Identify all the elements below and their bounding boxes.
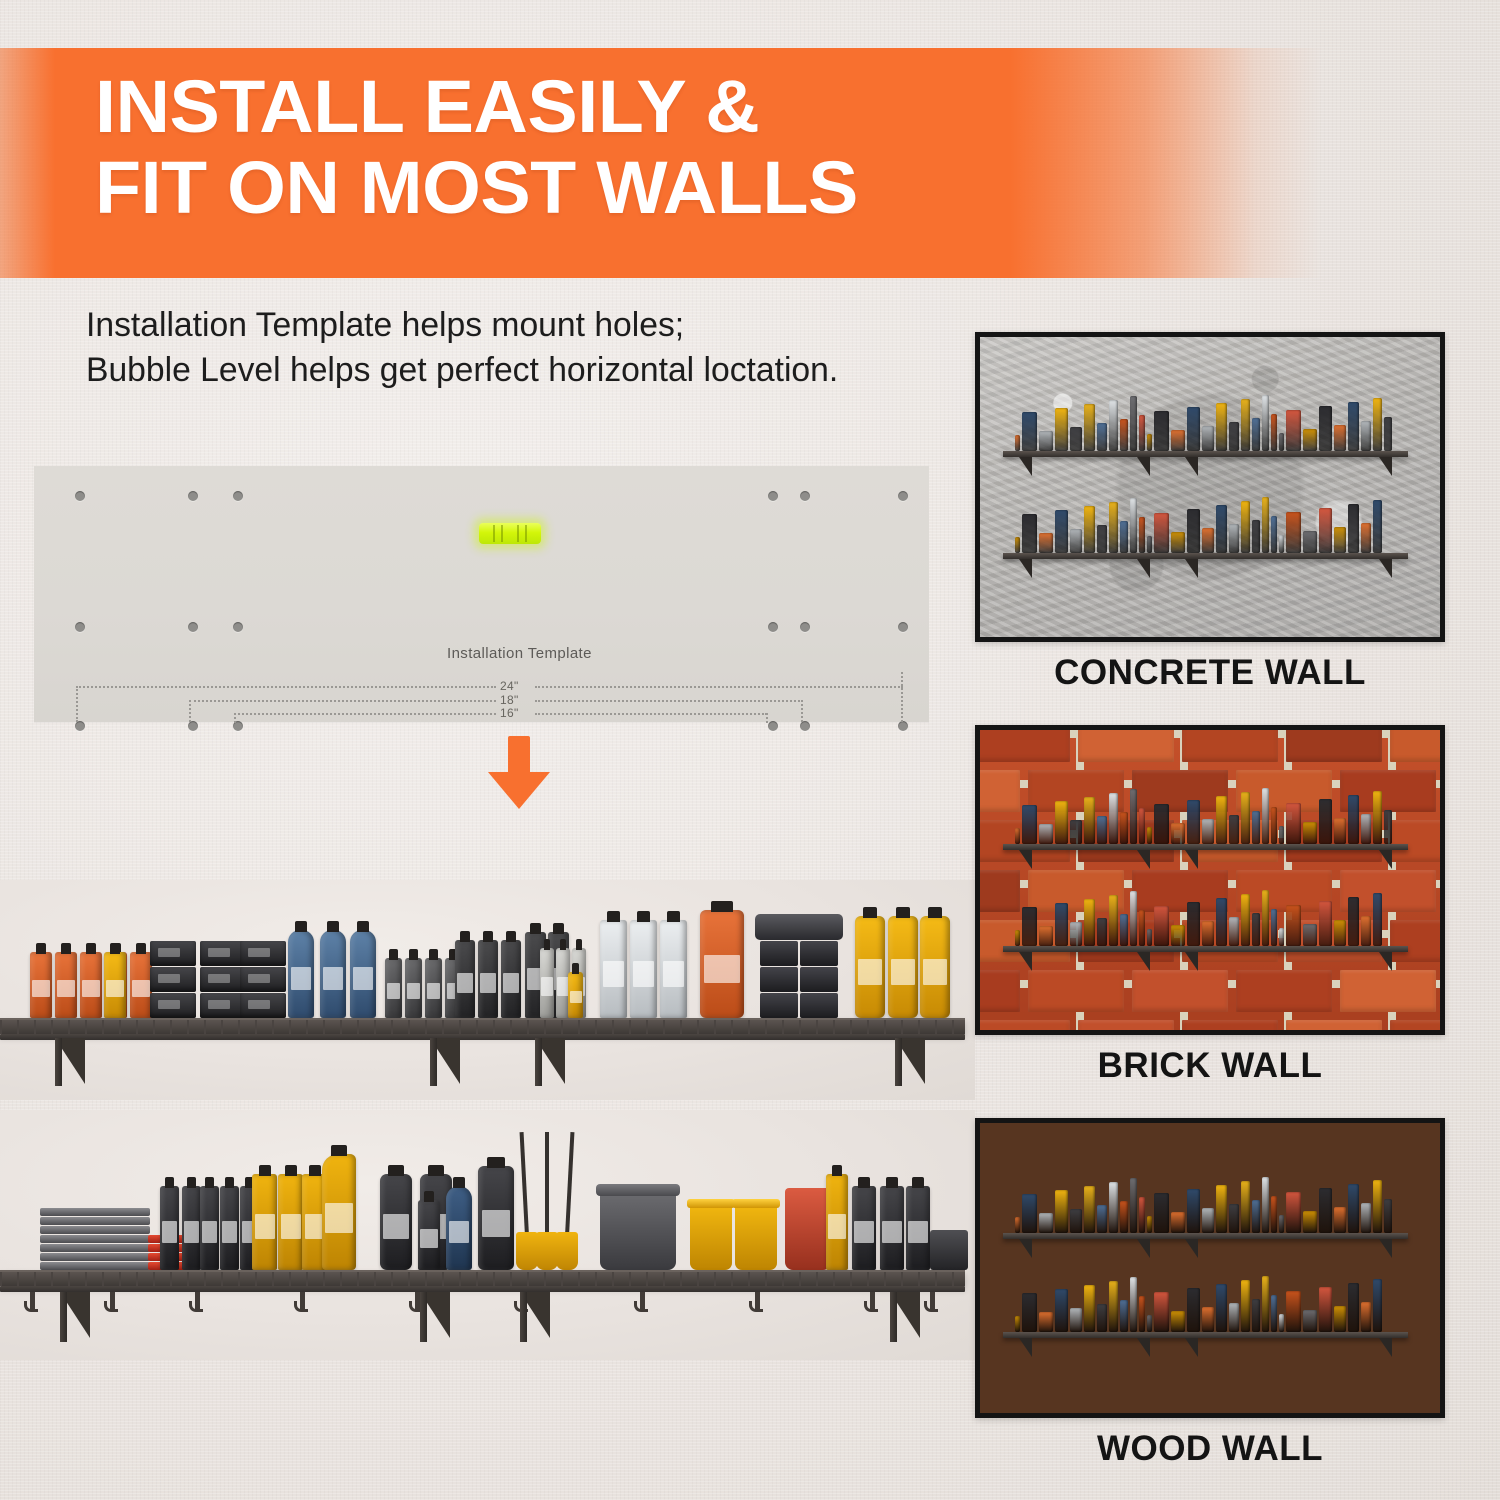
mini-shelf-item bbox=[1361, 1302, 1371, 1332]
wall-caption-concrete: CONCRETE WALL bbox=[975, 653, 1445, 693]
mini-shelf-item bbox=[1384, 810, 1392, 844]
mini-shelf-deck bbox=[1003, 946, 1408, 952]
mini-shelf-item bbox=[1015, 828, 1020, 844]
mini-shelf-item bbox=[1373, 1279, 1382, 1332]
shelf-item bbox=[418, 1200, 440, 1270]
mini-shelf-item bbox=[1022, 1194, 1037, 1233]
mini-shelf-item bbox=[1097, 816, 1107, 844]
bracket-post bbox=[890, 1292, 897, 1342]
mini-shelf-bracket bbox=[1137, 457, 1150, 476]
mini-shelf-item bbox=[1373, 500, 1382, 553]
upper-shelf-goods bbox=[0, 898, 975, 1018]
dim-label-24: 24" bbox=[500, 679, 519, 693]
shelf-hook bbox=[300, 1292, 305, 1312]
brick bbox=[975, 1020, 1070, 1035]
mini-shelf-item bbox=[1319, 1287, 1332, 1332]
mini-shelf-item bbox=[1055, 510, 1068, 553]
shelf-item bbox=[30, 952, 52, 1018]
mini-shelf-item bbox=[1097, 525, 1107, 553]
shelf-item bbox=[55, 952, 77, 1018]
bracket-post bbox=[520, 1292, 527, 1342]
mini-shelf-item bbox=[1303, 924, 1317, 946]
mini-shelf-bracket bbox=[1379, 457, 1392, 476]
mini-shelf-item bbox=[1319, 1188, 1332, 1233]
shelf-front bbox=[0, 1034, 965, 1040]
mini-shelf-bracket bbox=[1137, 952, 1150, 971]
mini-shelf-bracket bbox=[1185, 559, 1198, 578]
mini-shelf-item bbox=[1187, 800, 1200, 844]
brick-row bbox=[975, 970, 1445, 1012]
shelf-item bbox=[220, 1186, 239, 1270]
mini-shelf-item bbox=[1147, 536, 1152, 553]
shelf-item bbox=[182, 1186, 201, 1270]
mini-shelf-item bbox=[1241, 894, 1250, 946]
mini-shelf-item bbox=[1039, 926, 1053, 946]
mini-shelf-item bbox=[1055, 903, 1068, 946]
broom-handle bbox=[565, 1132, 574, 1236]
mini-shelf-item bbox=[1171, 1212, 1185, 1233]
mini-shelf-item bbox=[1084, 797, 1095, 844]
mini-shelf-item bbox=[1262, 1276, 1269, 1332]
shelf-front bbox=[0, 1286, 965, 1292]
shelf-item bbox=[405, 958, 422, 1018]
mini-shelf-item bbox=[1303, 822, 1317, 844]
mini-shelf-item bbox=[1271, 516, 1277, 553]
dim-tick-16-left bbox=[234, 713, 236, 723]
shelf-deck bbox=[0, 1270, 965, 1286]
mini-shelf-item bbox=[1109, 1182, 1118, 1233]
mini-shelf-item bbox=[1022, 1293, 1037, 1332]
mini-shelf-item bbox=[1070, 427, 1082, 451]
mini-shelf-item bbox=[1015, 1217, 1020, 1233]
mini-shelf-bracket bbox=[1019, 952, 1032, 971]
mini-shelf-item bbox=[1361, 814, 1371, 844]
mounting-hole bbox=[75, 622, 85, 632]
mini-shelf-item bbox=[1139, 808, 1145, 844]
shelf-item bbox=[855, 916, 885, 1018]
mini-shelf-item bbox=[1229, 917, 1239, 946]
lower-shelf-goods bbox=[0, 1130, 975, 1270]
shelf-item bbox=[80, 952, 102, 1018]
mini-shelf-item bbox=[1348, 897, 1359, 946]
stacked-pad bbox=[40, 1253, 150, 1261]
mini-shelf-item bbox=[1171, 430, 1185, 451]
bracket-post bbox=[535, 1038, 542, 1086]
shelf-item bbox=[478, 940, 498, 1018]
brick bbox=[1390, 725, 1445, 762]
mini-shelf-item bbox=[1241, 399, 1250, 451]
mini-shelf-item bbox=[1039, 533, 1053, 553]
shelf-item bbox=[252, 1174, 277, 1270]
mini-shelf-item bbox=[1139, 1296, 1145, 1332]
mini-shelf-bracket bbox=[1019, 457, 1032, 476]
mini-shelf-item bbox=[1279, 535, 1284, 553]
mini-shelf-item bbox=[1361, 916, 1371, 946]
mini-shelf-item bbox=[1271, 909, 1277, 946]
shelf-item bbox=[455, 940, 475, 1018]
mini-shelf-item bbox=[1070, 922, 1082, 946]
installation-template-panel bbox=[34, 466, 929, 722]
wall-caption-brick: BRICK WALL bbox=[975, 1046, 1445, 1086]
mounting-hole bbox=[898, 491, 908, 501]
shelf-item bbox=[350, 930, 376, 1018]
mini-shelf-item bbox=[1139, 517, 1145, 553]
yellow-bucket bbox=[690, 1204, 732, 1270]
mounting-hole bbox=[75, 721, 85, 731]
mini-shelf-item bbox=[1216, 403, 1227, 451]
mini-shelf-item bbox=[1109, 895, 1118, 946]
mini-shelf-item bbox=[1202, 1208, 1214, 1233]
brick bbox=[1132, 970, 1228, 1012]
mini-shelf-item bbox=[1241, 792, 1250, 844]
mini-shelf-deck bbox=[1003, 451, 1408, 457]
bracket-post bbox=[430, 1038, 437, 1086]
mini-shelf-item bbox=[1229, 1204, 1239, 1233]
storage-bin bbox=[240, 941, 286, 966]
shelf-item bbox=[660, 920, 687, 1018]
mini-shelf-item bbox=[1055, 1190, 1068, 1233]
brick bbox=[1132, 770, 1228, 812]
shelf-item bbox=[826, 1174, 848, 1270]
mini-shelf-item bbox=[1384, 417, 1392, 451]
mounting-hole bbox=[75, 491, 85, 501]
mini-shelf-item bbox=[1348, 504, 1359, 553]
broom-head bbox=[556, 1232, 578, 1270]
mini-shelf-item bbox=[1216, 505, 1227, 553]
mini-shelf-item bbox=[1241, 1181, 1250, 1233]
mini-shelf-item bbox=[1187, 1189, 1200, 1233]
mini-shelf-item bbox=[1286, 803, 1301, 844]
mini-shelf-item bbox=[1084, 899, 1095, 946]
mini-shelf-item bbox=[1286, 1291, 1301, 1332]
stacked-pad bbox=[40, 1235, 150, 1243]
mounting-hole bbox=[188, 491, 198, 501]
mini-shelf-item bbox=[1229, 422, 1239, 451]
mini-shelf-item bbox=[1286, 1192, 1301, 1233]
shelf-hook bbox=[755, 1292, 760, 1312]
mini-shelf-item bbox=[1139, 910, 1145, 946]
mounting-hole bbox=[188, 721, 198, 731]
shelf-deck bbox=[0, 1018, 965, 1034]
mini-shelf-item bbox=[1055, 1289, 1068, 1332]
dim-tick-16-right bbox=[766, 713, 768, 723]
bracket-post bbox=[55, 1038, 62, 1086]
mini-shelf-item bbox=[1319, 799, 1332, 844]
brick bbox=[1286, 725, 1382, 762]
shelf-item bbox=[104, 952, 126, 1018]
brick bbox=[1236, 970, 1332, 1012]
shelf-item bbox=[446, 1186, 472, 1270]
mini-shelf-bracket bbox=[1185, 952, 1198, 971]
mini-shelf-item bbox=[1348, 1184, 1359, 1233]
mini-shelf-item bbox=[1039, 1312, 1053, 1332]
mounting-hole bbox=[800, 721, 810, 731]
wall-card-concrete bbox=[975, 332, 1445, 642]
rolled-item bbox=[755, 914, 843, 940]
down-arrow-icon bbox=[488, 736, 550, 808]
shelf-item bbox=[385, 958, 402, 1018]
brick bbox=[1028, 970, 1124, 1012]
mini-shelf-item bbox=[1187, 902, 1200, 946]
mini-shelf-item bbox=[1171, 925, 1185, 946]
mini-shelf-item bbox=[1084, 404, 1095, 451]
mini-shelf-item bbox=[1022, 412, 1037, 451]
mini-shelf-item bbox=[1334, 1306, 1346, 1332]
broom-head bbox=[536, 1232, 558, 1270]
mini-shelf-item bbox=[1373, 791, 1382, 844]
mini-shelf-item bbox=[1109, 400, 1118, 451]
mini-shelf-item bbox=[1262, 497, 1269, 553]
mini-shelf-item bbox=[1120, 419, 1128, 451]
mini-shelf-item bbox=[1361, 421, 1371, 451]
mounting-hole bbox=[768, 491, 778, 501]
shelf-item bbox=[200, 1186, 219, 1270]
brick bbox=[975, 970, 1020, 1012]
mini-shelf-item bbox=[1241, 501, 1250, 553]
broom-head bbox=[516, 1232, 538, 1270]
brick bbox=[1078, 725, 1174, 762]
mini-shelf-item bbox=[1139, 1197, 1145, 1233]
mini-shelf-item bbox=[1015, 930, 1020, 946]
mini-shelf-item bbox=[1384, 1199, 1392, 1233]
mounting-hole bbox=[898, 721, 908, 731]
mini-shelf-item bbox=[1241, 1280, 1250, 1332]
mini-shelf-item bbox=[1262, 395, 1269, 451]
mini-shelf-item bbox=[1097, 1205, 1107, 1233]
mini-shelf-item bbox=[1262, 890, 1269, 946]
brick bbox=[1390, 920, 1445, 962]
mini-shelf-item bbox=[1070, 1209, 1082, 1233]
brick bbox=[1444, 770, 1445, 812]
mounting-hole bbox=[768, 721, 778, 731]
mini-shelf-item bbox=[1130, 789, 1137, 844]
stacked-pad bbox=[40, 1226, 150, 1234]
mini-shelf-item bbox=[1139, 415, 1145, 451]
shelf-item bbox=[630, 920, 657, 1018]
mini-shelf-item bbox=[1271, 807, 1277, 844]
shelf-item bbox=[130, 952, 152, 1018]
yellow-bucket bbox=[735, 1204, 777, 1270]
bubble-level-icon bbox=[479, 523, 541, 544]
dim-tick-24-left bbox=[76, 686, 78, 722]
mini-shelf-item bbox=[1187, 1288, 1200, 1332]
mini-shelf-item bbox=[1216, 898, 1227, 946]
mini-shelf-item bbox=[1109, 1281, 1118, 1332]
mini-shelf-item bbox=[1070, 820, 1082, 844]
stacked-pad bbox=[40, 1262, 150, 1270]
mini-shelf-item bbox=[1303, 429, 1317, 451]
storage-bin bbox=[150, 941, 196, 966]
storage-crate bbox=[760, 941, 798, 966]
shelf-item bbox=[600, 920, 627, 1018]
mini-shelf-item bbox=[1147, 827, 1152, 844]
shelf-item bbox=[888, 916, 918, 1018]
brick bbox=[1132, 870, 1228, 912]
mini-shelf-item bbox=[1252, 418, 1260, 451]
bucket-rim bbox=[687, 1199, 735, 1208]
mini-shelf-item bbox=[1348, 1283, 1359, 1332]
mini-shelf-item bbox=[1202, 528, 1214, 553]
mini-shelf-item bbox=[1130, 498, 1137, 553]
mini-shelf-bracket bbox=[1185, 850, 1198, 869]
mini-shelf-item bbox=[1171, 1311, 1185, 1332]
dim-tick-18-right bbox=[801, 700, 803, 722]
mini-shelf-item bbox=[1154, 804, 1169, 844]
mini-shelf-item bbox=[1130, 1178, 1137, 1233]
storage-bin bbox=[240, 967, 286, 992]
brick bbox=[1444, 970, 1445, 1012]
dim-line-18-right bbox=[535, 700, 803, 702]
mini-shelf-item bbox=[1130, 396, 1137, 451]
mini-shelf-deck bbox=[1003, 844, 1408, 850]
stacked-pad bbox=[40, 1217, 150, 1225]
wall-card-brick bbox=[975, 725, 1445, 1035]
brick bbox=[1236, 770, 1332, 812]
mini-shelf-item bbox=[1216, 796, 1227, 844]
mini-shelf-item bbox=[1097, 918, 1107, 946]
mini-shelf-item bbox=[1084, 1285, 1095, 1332]
coral-bucket bbox=[785, 1188, 831, 1270]
mini-shelf-item bbox=[1120, 914, 1128, 946]
brick bbox=[1340, 970, 1436, 1012]
mini-shelf-bracket bbox=[1379, 952, 1392, 971]
mini-shelf-item bbox=[1039, 1213, 1053, 1233]
bracket-post bbox=[895, 1038, 902, 1086]
mini-shelf-item bbox=[1055, 801, 1068, 844]
mini-shelf-bracket bbox=[1137, 1338, 1150, 1357]
main-shelf-upper bbox=[0, 880, 975, 1100]
shelf-item bbox=[568, 972, 583, 1018]
mini-shelf-item bbox=[1147, 1315, 1152, 1332]
storage-bin bbox=[150, 967, 196, 992]
mini-shelf-item bbox=[1262, 1177, 1269, 1233]
mini-shelf-item bbox=[1171, 823, 1185, 844]
mounting-hole bbox=[800, 491, 810, 501]
storage-crate bbox=[760, 967, 798, 992]
mini-shelf-bracket bbox=[1379, 850, 1392, 869]
mounting-hole bbox=[188, 622, 198, 632]
shelf-item bbox=[700, 910, 744, 1018]
mini-shelf-item bbox=[1229, 524, 1239, 553]
mini-shelf-item bbox=[1154, 1292, 1169, 1332]
template-label: Installation Template bbox=[447, 645, 592, 662]
mini-shelf-item bbox=[1120, 812, 1128, 844]
mini-shelf-item bbox=[1229, 815, 1239, 844]
shelf-item bbox=[852, 1186, 876, 1270]
mini-shelf-item bbox=[1252, 1299, 1260, 1332]
stacked-pad bbox=[40, 1208, 150, 1216]
dim-tick-24-right bbox=[901, 672, 903, 722]
shelf-item bbox=[278, 1174, 303, 1270]
mini-shelf-item bbox=[1022, 514, 1037, 553]
brick bbox=[1286, 1020, 1382, 1035]
broom-handle bbox=[520, 1132, 529, 1236]
mini-shelf-bracket bbox=[1185, 457, 1198, 476]
mini-shelf-item bbox=[1130, 1277, 1137, 1332]
brick-row bbox=[975, 725, 1445, 762]
shelf-item bbox=[322, 1154, 356, 1270]
mini-shelf-item bbox=[1334, 425, 1346, 451]
brick bbox=[975, 870, 1020, 912]
shelf-hook bbox=[110, 1292, 115, 1312]
mini-shelf-item bbox=[1154, 411, 1169, 451]
mini-shelf-item bbox=[1334, 1207, 1346, 1233]
mini-shelf-item bbox=[1070, 1308, 1082, 1332]
storage-bin bbox=[240, 993, 286, 1018]
mini-shelf-item bbox=[1303, 1310, 1317, 1332]
bucket-rim bbox=[732, 1199, 780, 1208]
mini-shelf-item bbox=[1202, 819, 1214, 844]
mini-shelf-item bbox=[1202, 1307, 1214, 1332]
mini-shelf-item bbox=[1171, 532, 1185, 553]
mini-shelf-item bbox=[1319, 508, 1332, 553]
mini-shelf-item bbox=[1319, 901, 1332, 946]
mini-shelf-bracket bbox=[1379, 1338, 1392, 1357]
mini-shelf-item bbox=[1070, 529, 1082, 553]
mini-shelf-bracket bbox=[1019, 850, 1032, 869]
storage-crate bbox=[760, 993, 798, 1018]
dim-line-16-left bbox=[234, 713, 496, 715]
mini-shelf-item bbox=[1279, 433, 1284, 451]
mini-shelf-item bbox=[1303, 1211, 1317, 1233]
mounting-hole bbox=[898, 622, 908, 632]
mini-shelf-deck bbox=[1003, 553, 1408, 559]
mini-shelf-bracket bbox=[1019, 1239, 1032, 1258]
mounting-hole bbox=[233, 622, 243, 632]
brick bbox=[975, 725, 1070, 762]
shelf-item bbox=[380, 1174, 412, 1270]
mini-shelf-item bbox=[1154, 513, 1169, 553]
mini-shelf-bracket bbox=[1185, 1239, 1198, 1258]
bucket-rim bbox=[596, 1184, 680, 1196]
mini-shelf-item bbox=[1373, 1180, 1382, 1233]
mini-shelf-item bbox=[1216, 1185, 1227, 1233]
storage-crate bbox=[800, 941, 838, 966]
page-title: INSTALL EASILY & FIT ON MOST WALLS bbox=[95, 66, 1166, 228]
brick bbox=[1182, 1020, 1278, 1035]
mini-shelf-item bbox=[1202, 426, 1214, 451]
brick bbox=[1390, 1020, 1445, 1035]
mini-shelf-item bbox=[1147, 929, 1152, 946]
mini-shelf-item bbox=[1154, 1193, 1169, 1233]
mini-shelf-deck bbox=[1003, 1332, 1408, 1338]
mini-shelf-item bbox=[1348, 402, 1359, 451]
shelf-item bbox=[540, 948, 554, 1018]
mini-shelf-item bbox=[1252, 1200, 1260, 1233]
brick bbox=[1444, 870, 1445, 912]
shelf-item bbox=[920, 916, 950, 1018]
dim-tick-18-left bbox=[189, 700, 191, 722]
bracket-post bbox=[60, 1292, 67, 1342]
brick-row bbox=[975, 1020, 1445, 1035]
mini-shelf-item bbox=[1097, 423, 1107, 451]
mini-shelf-item bbox=[1039, 431, 1053, 451]
mini-shelf-item bbox=[1252, 520, 1260, 553]
shelf-item bbox=[160, 1186, 179, 1270]
mini-shelf-item bbox=[1097, 1304, 1107, 1332]
mini-shelf-item bbox=[1015, 1316, 1020, 1332]
mini-shelf-item bbox=[1279, 928, 1284, 946]
mini-shelf-item bbox=[1022, 805, 1037, 844]
dim-label-16: 16" bbox=[500, 706, 519, 720]
mini-shelf-deck bbox=[1003, 1233, 1408, 1239]
shelf-item bbox=[501, 940, 521, 1018]
mini-shelf-item bbox=[1334, 818, 1346, 844]
mini-shelf-item bbox=[1334, 920, 1346, 946]
mini-shelf-item bbox=[1279, 1215, 1284, 1233]
storage-crate bbox=[800, 967, 838, 992]
mini-shelf-item bbox=[1262, 788, 1269, 844]
